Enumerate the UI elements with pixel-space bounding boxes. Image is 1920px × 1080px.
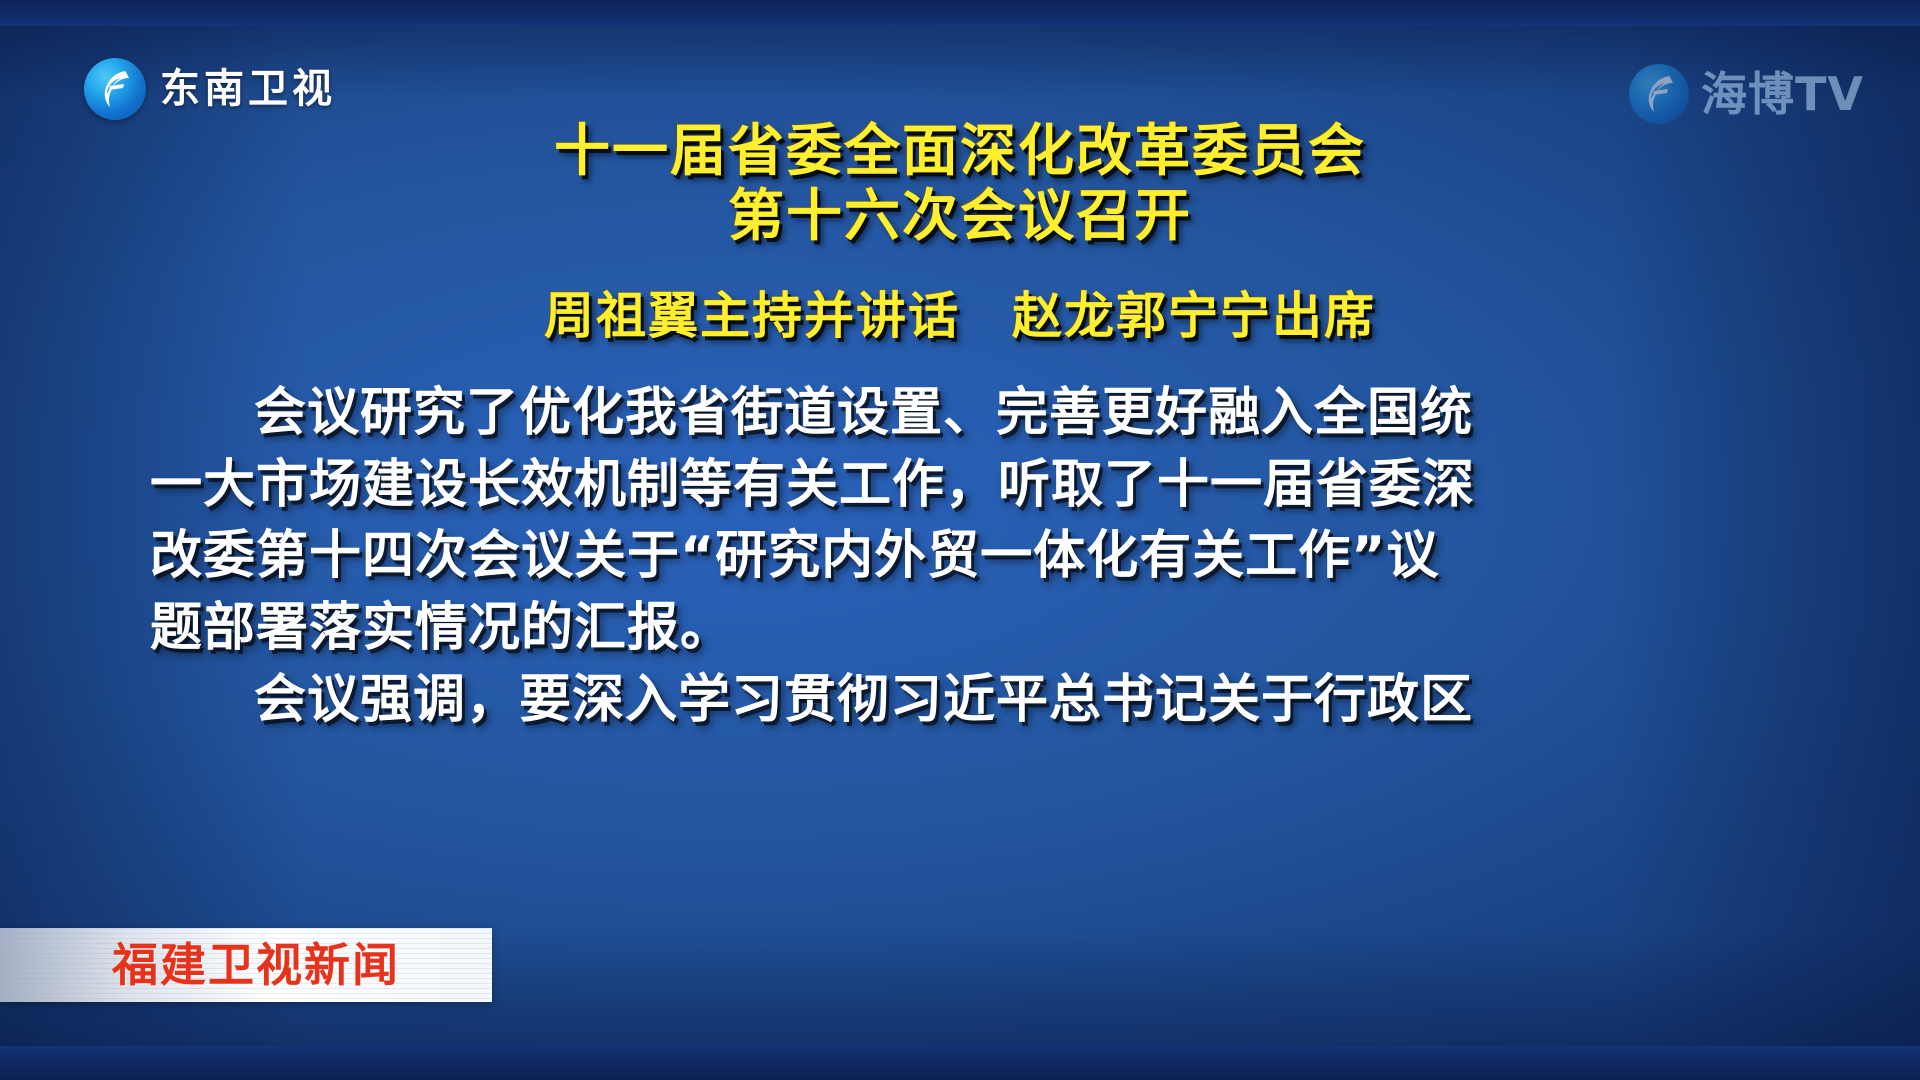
program-banner: 福建卫视新闻 <box>0 928 492 1002</box>
watermark-logo: 海博TV <box>1629 64 1864 124</box>
body-line: 会议研究了优化我省街道设置、完善更好融入全国统 <box>150 378 1770 450</box>
channel-logo: 东南卫视 <box>84 58 336 120</box>
bottom-edge-bar <box>0 1046 1920 1080</box>
body-line: 题部署落实情况的汇报。 <box>150 593 1770 665</box>
body-line: 会议强调，要深入学习贯彻习近平总书记关于行政区 <box>150 665 1770 737</box>
headline-line-2: 第十六次会议召开 <box>150 185 1770 250</box>
fujian-f-logo-icon <box>84 58 146 120</box>
top-edge-bar <box>0 0 1920 26</box>
channel-logo-label: 东南卫视 <box>160 69 336 109</box>
program-banner-label: 福建卫视新闻 <box>112 942 400 988</box>
body-line: 一大市场建设长效机制等有关工作，听取了十一届省委深 <box>150 450 1770 522</box>
watermark-label: 海博TV <box>1701 71 1864 117</box>
subheadline: 周祖翼主持并讲话 赵龙郭宁宁出席 <box>150 276 1770 348</box>
haibo-f-logo-icon <box>1629 64 1689 124</box>
headline-block: 十一届省委全面深化改革委员会 第十六次会议召开 周祖翼主持并讲话 赵龙郭宁宁出席 <box>150 120 1770 348</box>
lower-third-content: 十一届省委全面深化改革委员会 第十六次会议召开 周祖翼主持并讲话 赵龙郭宁宁出席… <box>0 120 1920 737</box>
body-line: 改委第十四次会议关于“研究内外贸一体化有关工作”议 <box>150 521 1770 593</box>
body-block: 会议研究了优化我省街道设置、完善更好融入全国统 一大市场建设长效机制等有关工作，… <box>150 378 1770 737</box>
headline-line-1: 十一届省委全面深化改革委员会 <box>150 120 1770 185</box>
broadcast-screen: 东南卫视 海博TV 十一届省委全面深化改革委员会 第十六次会议召开 周祖翼主持并… <box>0 0 1920 1080</box>
